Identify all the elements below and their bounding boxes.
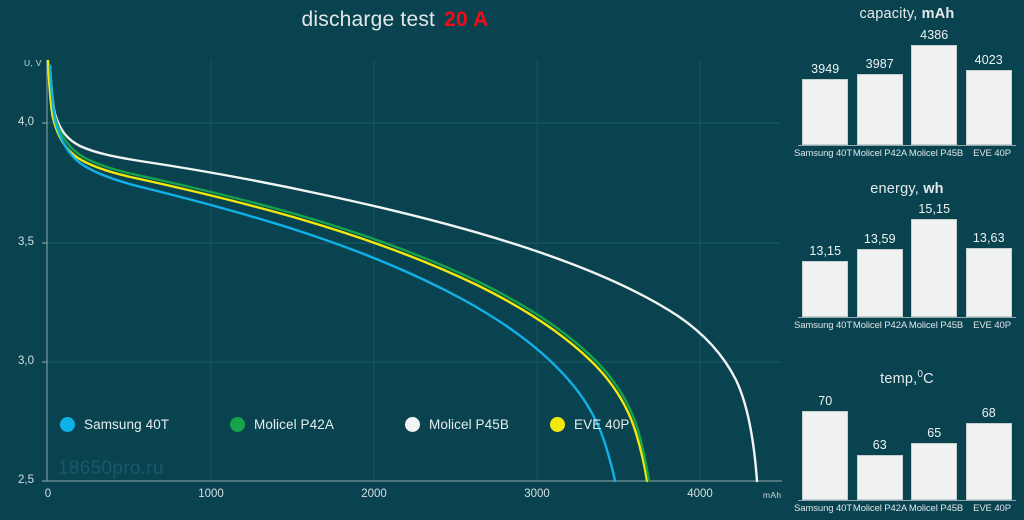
energy-value-molicel-p45b: 15,15 <box>918 202 950 216</box>
temperature-category-eve-40p: EVE 40P <box>964 503 1020 514</box>
capacity-bars: 3949 3987 4386 4023 <box>798 28 1016 145</box>
energy-category-eve-40p: EVE 40P <box>964 320 1020 331</box>
legend-label-molicel-p42a: Molicel P42A <box>254 417 334 432</box>
temperature-baseline <box>798 500 1016 501</box>
energy-bar-eve-40p[interactable]: 13,63 <box>962 202 1017 317</box>
horizontal-gridlines <box>47 123 780 362</box>
capacity-bar-molicel-p45b[interactable]: 4386 <box>907 28 962 145</box>
capacity-bar-rect-molicel-p42a <box>857 74 903 145</box>
temperature-value-samsung-40t: 70 <box>818 394 832 408</box>
temperature-title-unit: C <box>923 371 934 387</box>
capacity-bar-rect-molicel-p45b <box>911 45 957 145</box>
legend-item-molicel-p42a[interactable]: Molicel P42A <box>230 417 334 432</box>
x-tick-label-3000: 3000 <box>507 488 567 500</box>
temperature-category-molicel-p45b: Molicel P45B <box>908 503 964 514</box>
legend-label-molicel-p45b: Molicel P45B <box>429 417 509 432</box>
energy-bar-rect-molicel-p42a <box>857 249 903 317</box>
energy-bar-rect-eve-40p <box>966 248 1012 317</box>
energy-category-samsung-40t: Samsung 40T <box>794 320 852 331</box>
main-discharge-chart: discharge test20 A <box>0 0 790 520</box>
capacity-category-labels: Samsung 40T Molicel P42A Molicel P45B EV… <box>794 148 1020 159</box>
energy-baseline <box>798 317 1016 318</box>
x-tick-label-1000: 1000 <box>181 488 241 500</box>
temperature-bar-chart: temp,0C 70 63 65 68 Samsung 40T Molicel <box>790 354 1024 520</box>
capacity-value-eve-40p: 4023 <box>975 53 1003 67</box>
y-axis-unit-label: U, V <box>24 58 42 68</box>
temperature-bar-rect-samsung-40t <box>802 411 848 500</box>
energy-chart-title: energy, wh <box>790 181 1024 197</box>
energy-title-unit: wh <box>923 181 944 197</box>
temperature-bar-rect-molicel-p42a <box>857 455 903 500</box>
legend-color-dot-molicel-p45b <box>405 417 420 432</box>
temperature-value-molicel-p42a: 63 <box>873 438 887 452</box>
capacity-chart-title: capacity, mAh <box>790 6 1024 22</box>
capacity-category-eve-40p: EVE 40P <box>964 148 1020 159</box>
capacity-category-molicel-p42a: Molicel P42A <box>852 148 908 159</box>
capacity-category-molicel-p45b: Molicel P45B <box>908 148 964 159</box>
energy-bar-rect-samsung-40t <box>802 261 848 317</box>
capacity-category-samsung-40t: Samsung 40T <box>794 148 852 159</box>
legend-item-samsung-40t[interactable]: Samsung 40T <box>60 417 169 432</box>
y-axis-ticks <box>42 123 47 481</box>
temperature-category-labels: Samsung 40T Molicel P42A Molicel P45B EV… <box>794 503 1020 514</box>
energy-value-samsung-40t: 13,15 <box>809 244 841 258</box>
capacity-title-text: capacity, <box>859 6 917 22</box>
y-tick-label-3.0: 3,0 <box>2 355 34 367</box>
x-tick-label-2000: 2000 <box>344 488 404 500</box>
capacity-value-molicel-p42a: 3987 <box>866 57 894 71</box>
x-tick-label-0: 0 <box>18 488 78 500</box>
temperature-bars: 70 63 65 68 <box>798 390 1016 500</box>
capacity-bar-samsung-40t[interactable]: 3949 <box>798 28 853 145</box>
energy-value-eve-40p: 13,63 <box>973 231 1005 245</box>
energy-bar-molicel-p42a[interactable]: 13,59 <box>853 202 908 317</box>
legend-label-eve-40p: EVE 40P <box>574 417 629 432</box>
legend-item-molicel-p45b[interactable]: Molicel P45B <box>405 417 509 432</box>
y-tick-label-3.5: 3,5 <box>2 236 34 248</box>
capacity-bar-eve-40p[interactable]: 4023 <box>962 28 1017 145</box>
x-tick-label-4000: 4000 <box>670 488 730 500</box>
temperature-title-text: temp, <box>880 371 917 387</box>
temperature-value-molicel-p45b: 65 <box>927 426 941 440</box>
energy-value-molicel-p42a: 13,59 <box>864 232 896 246</box>
capacity-baseline <box>798 145 1016 146</box>
energy-bar-samsung-40t[interactable]: 13,15 <box>798 202 853 317</box>
capacity-value-samsung-40t: 3949 <box>811 62 839 76</box>
energy-bars: 13,15 13,59 15,15 13,63 <box>798 202 1016 317</box>
energy-category-molicel-p45b: Molicel P45B <box>908 320 964 331</box>
temperature-value-eve-40p: 68 <box>982 406 996 420</box>
energy-bar-chart: energy, wh 13,15 13,59 15,15 13,63 Sams <box>790 168 1024 354</box>
capacity-bar-rect-eve-40p <box>966 70 1012 145</box>
temperature-bar-rect-eve-40p <box>966 423 1012 500</box>
capacity-bar-rect-samsung-40t <box>802 79 848 145</box>
site-watermark: 18650pro.ru <box>58 458 164 480</box>
x-axis-unit-label: mAh <box>763 490 781 500</box>
energy-category-molicel-p42a: Molicel P42A <box>852 320 908 331</box>
temperature-category-molicel-p42a: Molicel P42A <box>852 503 908 514</box>
capacity-title-unit: mAh <box>922 6 955 22</box>
energy-bar-rect-molicel-p45b <box>911 219 957 317</box>
energy-category-labels: Samsung 40T Molicel P42A Molicel P45B EV… <box>794 320 1020 331</box>
capacity-value-molicel-p45b: 4386 <box>920 28 948 42</box>
capacity-bar-chart: capacity, mAh 3949 3987 4386 4023 Samsu <box>790 0 1024 168</box>
capacity-bar-molicel-p42a[interactable]: 3987 <box>853 28 908 145</box>
energy-bar-molicel-p45b[interactable]: 15,15 <box>907 202 962 317</box>
temperature-bar-molicel-p45b[interactable]: 65 <box>907 390 962 500</box>
temperature-bar-samsung-40t[interactable]: 70 <box>798 390 853 500</box>
legend-item-eve-40p[interactable]: EVE 40P <box>550 417 629 432</box>
chart-legend: Samsung 40T Molicel P42A Molicel P45B EV… <box>60 417 680 445</box>
energy-title-text: energy, <box>870 181 919 197</box>
discharge-test-infographic: discharge test20 A <box>0 0 1024 520</box>
y-tick-label-4.0: 4,0 <box>2 116 34 128</box>
temperature-chart-title: temp,0C <box>790 369 1024 387</box>
temperature-bar-molicel-p42a[interactable]: 63 <box>853 390 908 500</box>
temperature-bar-rect-molicel-p45b <box>911 443 957 500</box>
y-tick-label-2.5: 2,5 <box>2 474 34 486</box>
legend-color-dot-samsung-40t <box>60 417 75 432</box>
temperature-bar-eve-40p[interactable]: 68 <box>962 390 1017 500</box>
legend-label-samsung-40t: Samsung 40T <box>84 417 169 432</box>
temperature-category-samsung-40t: Samsung 40T <box>794 503 852 514</box>
legend-color-dot-molicel-p42a <box>230 417 245 432</box>
legend-color-dot-eve-40p <box>550 417 565 432</box>
